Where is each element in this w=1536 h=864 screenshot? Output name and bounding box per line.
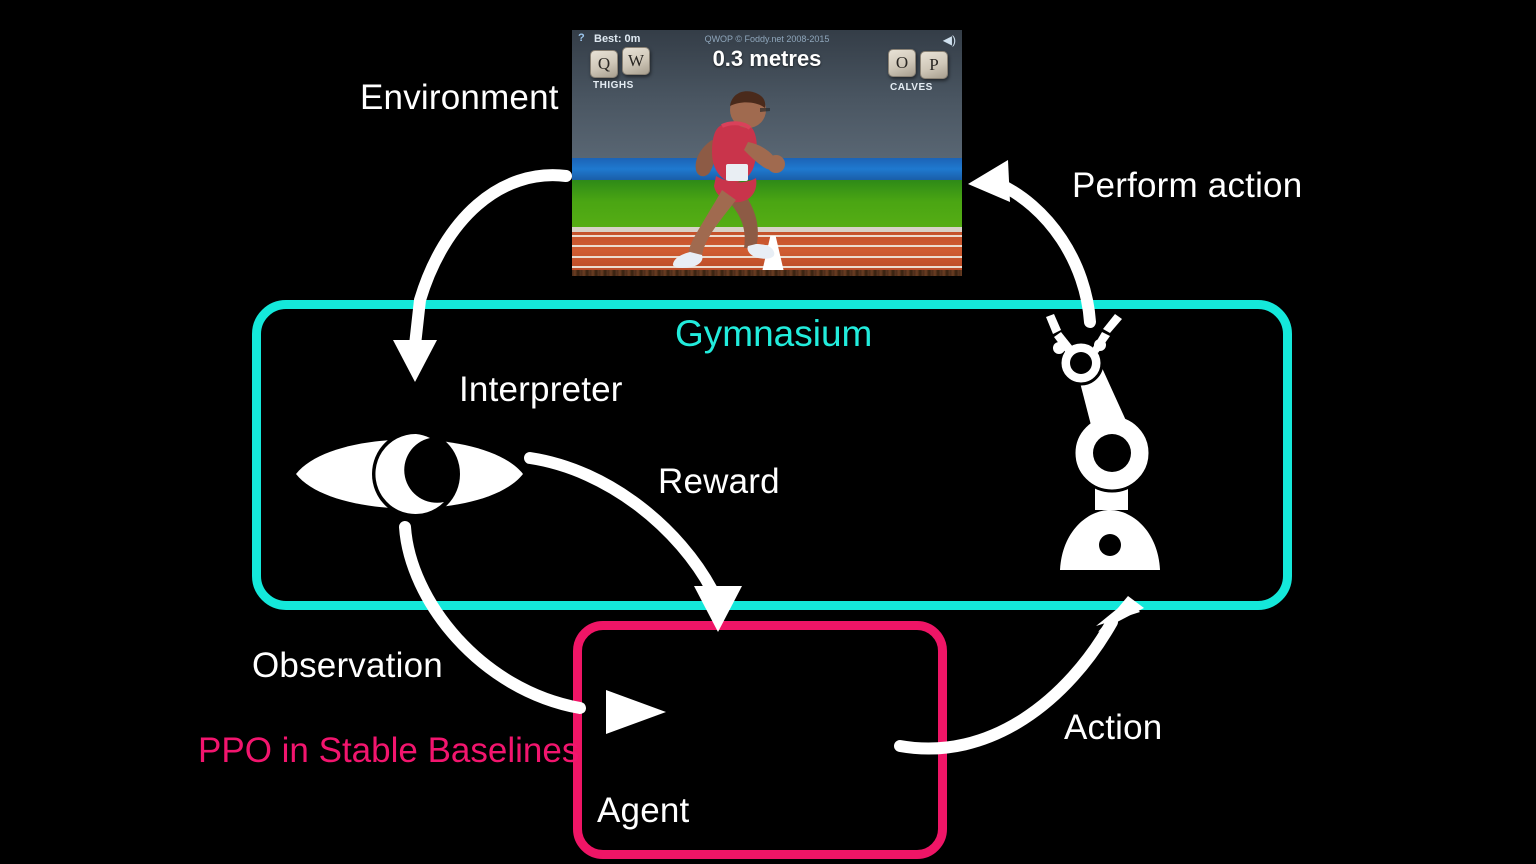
label-environment: Environment	[360, 78, 559, 118]
label-interpreter: Interpreter	[459, 370, 623, 410]
game-credit-label: QWOP © Foddy.net 2008-2015	[572, 34, 962, 44]
label-agent: Agent	[597, 791, 689, 831]
game-dirt-strip	[572, 270, 962, 276]
calves-group-label: CALVES	[890, 82, 933, 93]
key-w[interactable]: W	[622, 47, 650, 75]
thighs-group-label: THIGHS	[593, 80, 634, 91]
speaker-icon[interactable]: ◀)	[943, 33, 956, 47]
label-reward: Reward	[658, 462, 780, 502]
qwop-game-screenshot: ? Best: 0m QWOP © Foddy.net 2008-2015 ◀)…	[572, 30, 962, 276]
key-q[interactable]: Q	[590, 50, 618, 78]
game-topbar: ? Best: 0m QWOP © Foddy.net 2008-2015 ◀)	[572, 30, 962, 46]
runner-sprite	[660, 78, 810, 268]
diagram-canvas: ? Best: 0m QWOP © Foddy.net 2008-2015 ◀)…	[0, 0, 1536, 864]
key-p[interactable]: P	[920, 51, 948, 79]
eye-icon	[292, 424, 527, 524]
label-ppo: PPO in Stable Baselines	[198, 731, 579, 771]
key-o[interactable]: O	[888, 49, 916, 77]
label-perform-action: Perform action	[1072, 166, 1302, 206]
label-gymnasium: Gymnasium	[675, 313, 872, 355]
label-observation: Observation	[252, 646, 443, 686]
label-action: Action	[1064, 708, 1162, 748]
robot-arm-icon	[1040, 305, 1200, 575]
